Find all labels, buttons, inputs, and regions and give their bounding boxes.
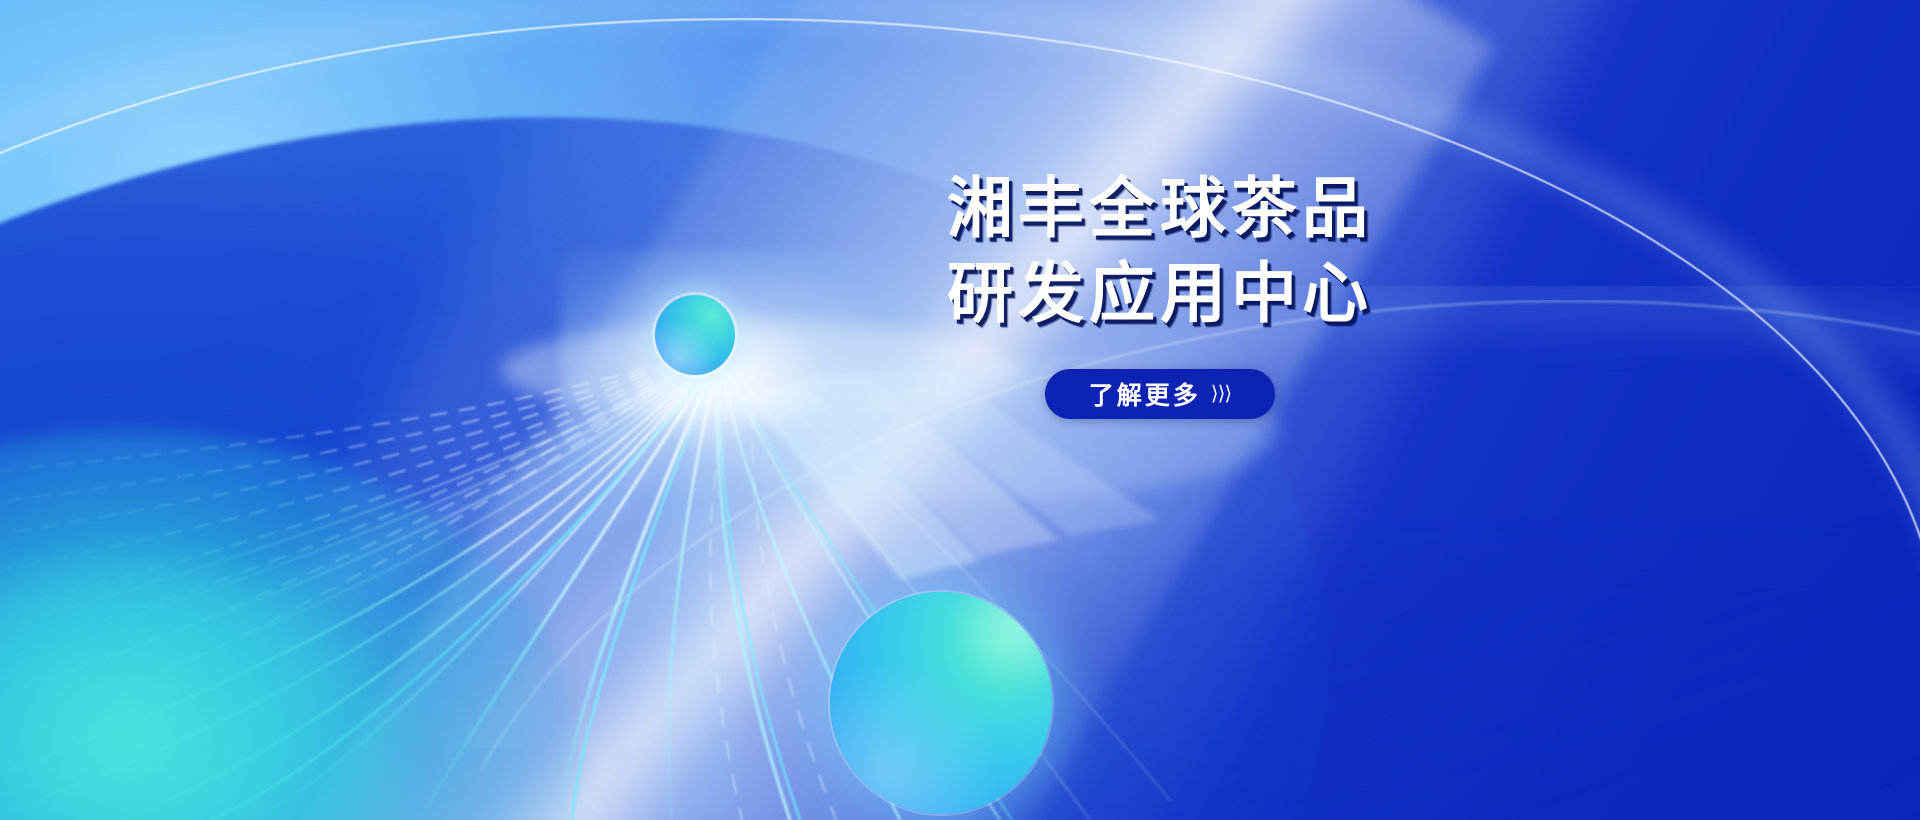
hero-banner: 湘丰全球茶品 研发应用中心 了解更多 ⟩⟩⟩ [0,0,1920,820]
large-sphere-decoration [830,592,1052,814]
headline-line-2: 研发应用中心 [880,253,1440,334]
bottom-left-teal-glow-core [0,560,410,820]
hero-content: 湘丰全球茶品 研发应用中心 了解更多 ⟩⟩⟩ [880,168,1440,419]
bottom-right-dark-wedge [980,560,1920,820]
small-sphere-decoration [655,295,735,375]
triple-chevron-right-icon: ⟩⟩⟩ [1211,381,1231,406]
cta-label: 了解更多 [1089,376,1201,412]
learn-more-button[interactable]: 了解更多 ⟩⟩⟩ [1045,369,1275,419]
headline-line-1: 湘丰全球茶品 [880,168,1440,249]
bottom-left-teal-glow [0,430,580,820]
cta-container: 了解更多 ⟩⟩⟩ [880,369,1440,419]
